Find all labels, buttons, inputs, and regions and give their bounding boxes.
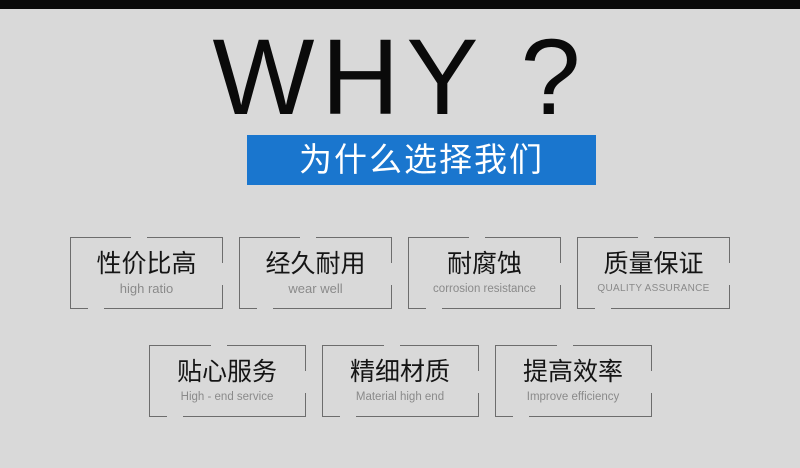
- badge-border-right-bottom: [222, 285, 223, 309]
- badge-border-top-right: [573, 345, 652, 346]
- subtitle-banner: 为什么选择我们: [247, 135, 596, 185]
- badge-border-bottom-left: [322, 416, 341, 417]
- badge-border-right-top: [729, 237, 730, 263]
- badge-title-cn: 质量保证: [603, 249, 703, 279]
- badge-title-cn: 提高效率: [523, 357, 623, 387]
- badge-border-bottom-left: [408, 308, 426, 309]
- badge-title-cn: 精细材质: [350, 357, 450, 387]
- badge-border-top-left: [577, 237, 638, 238]
- badge-border-left: [408, 237, 409, 309]
- badge-subtitle-en: wear well: [288, 281, 342, 297]
- badge-border-top-right: [147, 237, 224, 238]
- badge-border-right-bottom: [729, 285, 730, 309]
- badge-border-bottom-left: [70, 308, 88, 309]
- badge-title-cn: 性价比高: [96, 249, 196, 279]
- feature-badge-wear-well[interactable]: 经久耐用 wear well: [239, 237, 392, 309]
- badge-border-right-bottom: [478, 393, 479, 417]
- badge-subtitle-en: QUALITY ASSURANCE: [597, 281, 709, 297]
- badge-border-bottom-right: [104, 308, 223, 309]
- badge-border-left: [577, 237, 578, 309]
- subtitle-banner-text: 为什么选择我们: [299, 143, 544, 177]
- feature-badge-row-1: 性价比高 high ratio 经久耐用 wear well 耐腐蚀 corro…: [0, 237, 800, 309]
- badge-subtitle-en: corrosion resistance: [433, 281, 536, 297]
- badge-border-right-top: [391, 237, 392, 263]
- badge-subtitle-en: high ratio: [120, 281, 173, 297]
- badge-title-cn: 经久耐用: [265, 249, 365, 279]
- badge-border-left: [322, 345, 323, 417]
- badge-title-cn: 贴心服务: [177, 357, 277, 387]
- badge-border-left: [239, 237, 240, 309]
- badge-border-top-right: [316, 237, 393, 238]
- feature-badge-row-2: 贴心服务 High - end service 精细材质 Material hi…: [0, 345, 800, 417]
- top-black-bar: [0, 0, 800, 9]
- badge-border-bottom-left: [239, 308, 257, 309]
- badge-border-right-top: [305, 345, 306, 371]
- badge-border-right-bottom: [651, 393, 652, 417]
- badge-border-bottom-right: [273, 308, 392, 309]
- badge-border-bottom-left: [495, 416, 514, 417]
- badge-border-bottom-left: [577, 308, 595, 309]
- badge-border-bottom-left: [149, 416, 168, 417]
- badge-border-top-right: [400, 345, 479, 346]
- badge-title-cn: 耐腐蚀: [447, 249, 522, 279]
- feature-badge-corrosion-resistance[interactable]: 耐腐蚀 corrosion resistance: [408, 237, 561, 309]
- badge-border-bottom-right: [183, 416, 305, 417]
- badge-border-right-bottom: [305, 393, 306, 417]
- badge-border-right-top: [651, 345, 652, 371]
- badge-border-bottom-right: [529, 416, 651, 417]
- badge-border-bottom-right: [611, 308, 730, 309]
- badge-border-right-bottom: [391, 285, 392, 309]
- badge-border-top-left: [408, 237, 469, 238]
- badge-border-top-left: [70, 237, 131, 238]
- feature-badge-improve-efficiency[interactable]: 提高效率 Improve efficiency: [495, 345, 652, 417]
- badge-border-top-left: [322, 345, 385, 346]
- badge-border-right-top: [560, 237, 561, 263]
- badge-border-right-bottom: [560, 285, 561, 309]
- badge-border-top-right: [654, 237, 731, 238]
- feature-badge-high-end-service[interactable]: 贴心服务 High - end service: [149, 345, 306, 417]
- page-title: WHY ?: [0, 18, 800, 136]
- badge-border-top-left: [239, 237, 300, 238]
- badge-subtitle-en: High - end service: [181, 389, 274, 405]
- badge-border-top-right: [485, 237, 562, 238]
- badge-border-top-left: [149, 345, 212, 346]
- badge-border-left: [149, 345, 150, 417]
- badge-border-left: [70, 237, 71, 309]
- badge-border-top-left: [495, 345, 558, 346]
- feature-badge-quality-assurance[interactable]: 质量保证 QUALITY ASSURANCE: [577, 237, 730, 309]
- badge-border-right-top: [478, 345, 479, 371]
- feature-badge-high-ratio[interactable]: 性价比高 high ratio: [70, 237, 223, 309]
- badge-border-bottom-right: [442, 308, 561, 309]
- badge-border-left: [495, 345, 496, 417]
- badge-border-bottom-right: [356, 416, 478, 417]
- feature-badge-material-high-end[interactable]: 精细材质 Material high end: [322, 345, 479, 417]
- badge-subtitle-en: Improve efficiency: [527, 389, 619, 405]
- badge-border-right-top: [222, 237, 223, 263]
- badge-border-top-right: [227, 345, 306, 346]
- badge-subtitle-en: Material high end: [356, 389, 444, 405]
